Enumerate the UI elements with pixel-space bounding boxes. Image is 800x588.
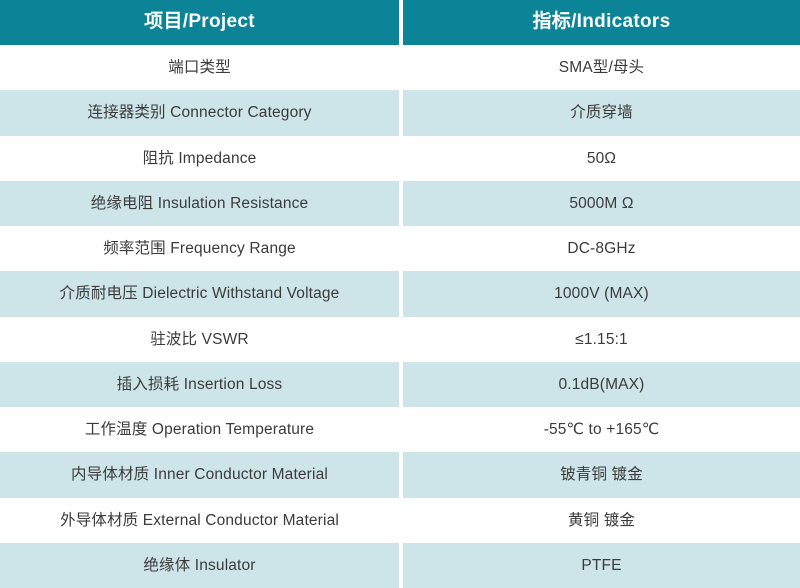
column-header-project: 项目/Project [0, 0, 399, 45]
cell-project: 介质耐电压 Dielectric Withstand Voltage [0, 271, 399, 316]
cell-project: 驻波比 VSWR [0, 317, 399, 362]
cell-project: 绝缘电阻 Insulation Resistance [0, 181, 399, 226]
table-row: 驻波比 VSWR ≤1.15:1 [0, 317, 800, 362]
table-row: 工作温度 Operation Temperature -55℃ to +165℃ [0, 407, 800, 452]
cell-indicator: 50Ω [403, 136, 800, 181]
cell-indicator: 介质穿墙 [403, 90, 800, 135]
cell-indicator: SMA型/母头 [403, 45, 800, 90]
cell-project: 频率范围 Frequency Range [0, 226, 399, 271]
table-row: 外导体材质 External Conductor Material 黄铜 镀金 [0, 498, 800, 543]
cell-indicator: PTFE [403, 543, 800, 588]
table-header-row: 项目/Project 指标/Indicators [0, 0, 800, 45]
table-row: 连接器类别 Connector Category 介质穿墙 [0, 90, 800, 135]
cell-indicator: 5000M Ω [403, 181, 800, 226]
column-header-indicators: 指标/Indicators [403, 0, 800, 45]
cell-project: 绝缘体 Insulator [0, 543, 399, 588]
table-row: 阻抗 Impedance 50Ω [0, 136, 800, 181]
table-row: 插入损耗 Insertion Loss 0.1dB(MAX) [0, 362, 800, 407]
cell-project: 阻抗 Impedance [0, 136, 399, 181]
cell-project: 端口类型 [0, 45, 399, 90]
cell-indicator: 0.1dB(MAX) [403, 362, 800, 407]
cell-project: 连接器类别 Connector Category [0, 90, 399, 135]
cell-indicator: DC-8GHz [403, 226, 800, 271]
table-row: 频率范围 Frequency Range DC-8GHz [0, 226, 800, 271]
table-row: 内导体材质 Inner Conductor Material 铍青铜 镀金 [0, 452, 800, 497]
table-row: 端口类型 SMA型/母头 [0, 45, 800, 90]
cell-project: 内导体材质 Inner Conductor Material [0, 452, 399, 497]
cell-indicator: 铍青铜 镀金 [403, 452, 800, 497]
table-row: 介质耐电压 Dielectric Withstand Voltage 1000V… [0, 271, 800, 316]
specification-table: 项目/Project 指标/Indicators 端口类型 SMA型/母头 连接… [0, 0, 800, 588]
cell-project: 外导体材质 External Conductor Material [0, 498, 399, 543]
cell-indicator: -55℃ to +165℃ [403, 407, 800, 452]
cell-project: 工作温度 Operation Temperature [0, 407, 399, 452]
cell-indicator: 1000V (MAX) [403, 271, 800, 316]
cell-indicator: 黄铜 镀金 [403, 498, 800, 543]
table-row: 绝缘体 Insulator PTFE [0, 543, 800, 588]
cell-indicator: ≤1.15:1 [403, 317, 800, 362]
table-row: 绝缘电阻 Insulation Resistance 5000M Ω [0, 181, 800, 226]
cell-project: 插入损耗 Insertion Loss [0, 362, 399, 407]
